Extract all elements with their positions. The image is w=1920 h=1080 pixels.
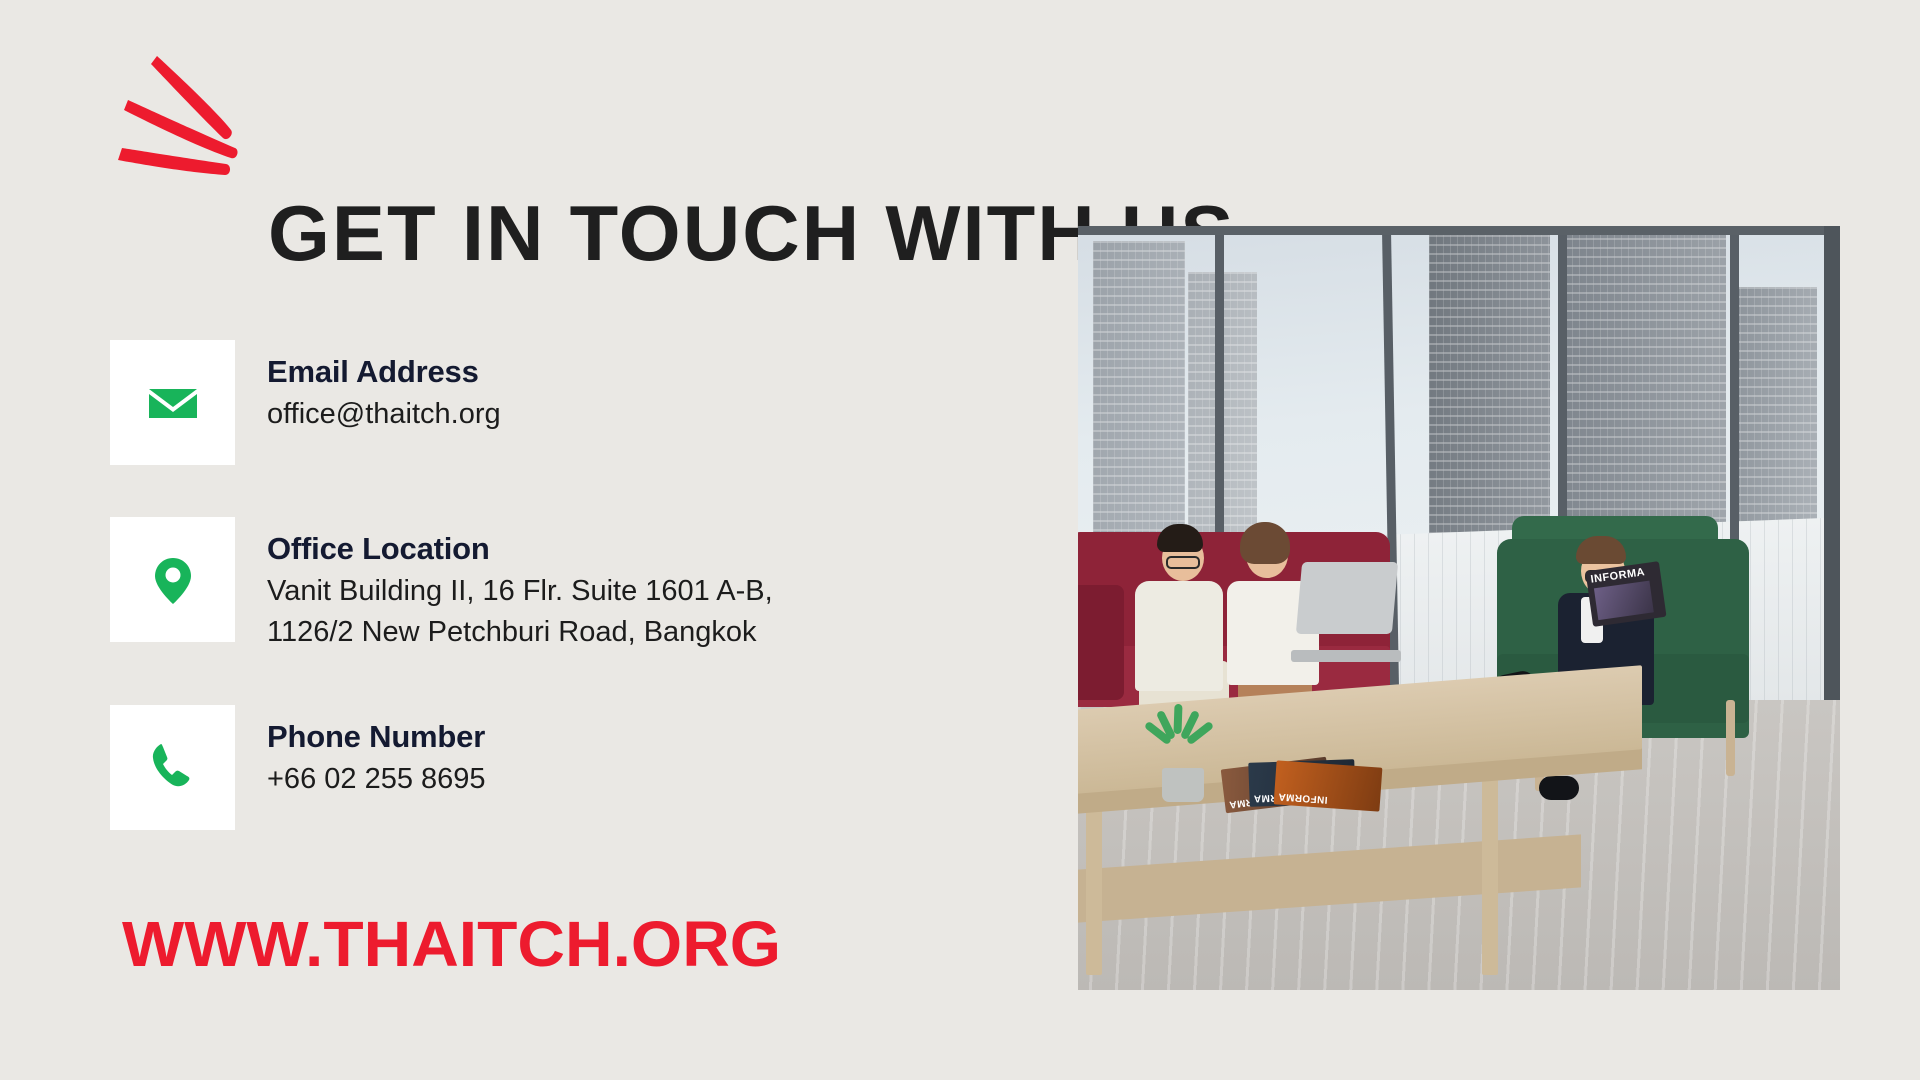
contact-title-email: Email Address [267,354,501,390]
plant-pot [1162,768,1204,802]
contact-value-phone[interactable]: +66 02 255 8695 [267,759,486,800]
contact-item-phone[interactable]: Phone Number +66 02 255 8695 [110,705,970,830]
contact-text-location: Office Location Vanit Building II, 16 Fl… [267,517,773,653]
photo-scene: INFORMA INFORMA INFORMA INFO [1078,226,1840,990]
contact-item-email[interactable]: Email Address office@thaitch.org [110,340,970,465]
person-2-hair [1240,522,1290,564]
magazine: INFORMA [1273,760,1382,811]
coffee-table-leg [1482,761,1498,975]
contact-value-location-line2: 1126/2 New Petchburi Road, Bangkok [267,612,773,653]
laptop [1296,562,1398,634]
contact-title-phone: Phone Number [267,719,486,755]
contact-value-location-line1: Vanit Building II, 16 Flr. Suite 1601 A-… [267,571,773,612]
envelope-icon [110,340,235,465]
map-pin-icon [110,517,235,642]
person-1-glasses [1166,556,1200,569]
person-3-hair [1576,536,1626,564]
red-sofa-arm [1078,585,1124,700]
magazine-title: INFORMA [1278,790,1328,804]
potted-plant-leaves [1154,704,1208,746]
contact-slide: GET IN TOUCH WITH US Email Address offic… [0,0,1920,1080]
website-url[interactable]: WWW.THAITCH.ORG [122,912,781,976]
contact-title-location: Office Location [267,531,773,567]
thaitch-logo-mark [118,38,268,178]
magazine-held: INFORMA [1585,561,1666,627]
laptop-base [1291,650,1401,662]
contact-list: Email Address office@thaitch.org Office … [110,340,970,830]
coffee-table-leg [1086,807,1102,975]
window-mullion [1078,226,1840,235]
chair-leg [1726,700,1735,776]
contact-value-email[interactable]: office@thaitch.org [267,394,501,435]
contact-text-phone: Phone Number +66 02 255 8695 [267,705,486,800]
magazines-on-table: INFORMA INFORMA INFORMA [1223,761,1403,813]
person-1-body [1135,581,1223,691]
office-lounge-photo: INFORMA INFORMA INFORMA INFO [1078,226,1840,990]
contact-item-location[interactable]: Office Location Vanit Building II, 16 Fl… [110,517,970,653]
slide-header: GET IN TOUCH WITH US [118,38,1418,188]
contact-text-email: Email Address office@thaitch.org [267,340,501,435]
phone-icon [110,705,235,830]
person-3-shoe [1539,776,1579,800]
